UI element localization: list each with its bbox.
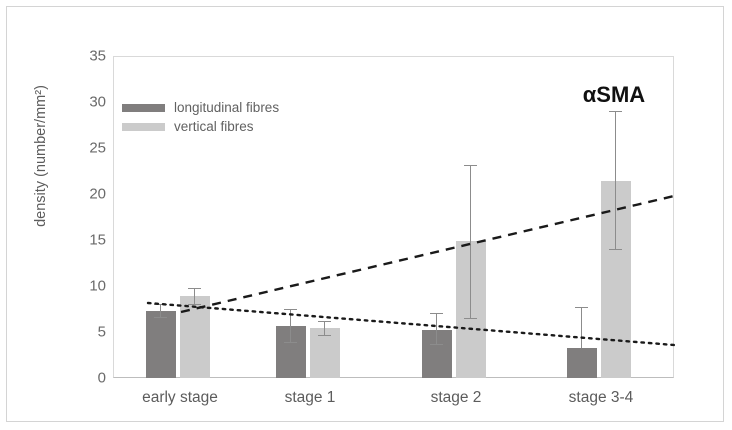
y-tick-30: 30 [66, 95, 106, 110]
y-tick-20: 20 [66, 187, 106, 202]
bar-vertical-stage-2[interactable] [456, 241, 486, 378]
x-tick-stage-3-4: stage 3-4 [521, 389, 681, 407]
bar-longitudinal-stage-3-4[interactable] [567, 348, 597, 378]
errorbar-cap-bottom-vertical-early-stage [188, 304, 201, 305]
errorbar-cap-top-vertical-stage-3-4 [609, 111, 622, 112]
bar-longitudinal-stage-2[interactable] [422, 330, 452, 378]
errorbar-cap-bottom-vertical-stage-3-4 [609, 249, 622, 250]
errorbar-longitudinal-early-stage [160, 304, 161, 317]
errorbar-vertical-stage-3-4 [615, 111, 616, 249]
errorbar-vertical-stage-2 [470, 165, 471, 318]
legend-label-vertical: vertical fibres [174, 119, 254, 134]
errorbar-vertical-stage-1 [324, 321, 325, 335]
errorbar-cap-top-vertical-stage-2 [464, 165, 477, 166]
errorbar-longitudinal-stage-2 [436, 313, 437, 344]
errorbar-cap-top-longitudinal-stage-1 [284, 309, 297, 310]
errorbar-cap-top-longitudinal-stage-3-4 [575, 307, 588, 308]
y-tick-15: 15 [66, 233, 106, 248]
errorbar-cap-top-longitudinal-stage-2 [430, 313, 443, 314]
legend-swatch-vertical-icon [122, 123, 165, 131]
y-tick-10: 10 [66, 279, 106, 294]
y-axis-title: density (number/mm²) [33, 31, 49, 281]
y-tick-35: 35 [66, 49, 106, 64]
y-tick-0: 0 [66, 371, 106, 386]
errorbar-cap-bottom-longitudinal-stage-1 [284, 342, 297, 343]
errorbar-cap-bottom-longitudinal-stage-2 [430, 344, 443, 345]
figure-canvas: 35 30 25 20 15 10 5 0 density (number/mm… [0, 0, 732, 430]
errorbar-vertical-early-stage [194, 288, 195, 304]
errorbar-longitudinal-stage-1 [290, 309, 291, 342]
legend: longitudinal fibres vertical fibres [122, 98, 352, 136]
errorbar-cap-bottom-vertical-stage-1 [318, 335, 331, 336]
errorbar-longitudinal-stage-3-4 [581, 307, 582, 348]
errorbar-cap-bottom-longitudinal-early-stage [154, 317, 167, 318]
y-tick-5: 5 [66, 325, 106, 340]
panel-title: αSMA [555, 82, 673, 108]
bar-longitudinal-stage-1[interactable] [276, 326, 306, 378]
bar-vertical-stage-3-4[interactable] [601, 181, 631, 378]
y-tick-25: 25 [66, 141, 106, 156]
legend-swatch-longitudinal-icon [122, 104, 165, 112]
bar-vertical-early-stage[interactable] [180, 296, 210, 378]
y-axis-tick-labels: 35 30 25 20 15 10 5 0 [60, 0, 106, 430]
legend-item-longitudinal-fibres[interactable]: longitudinal fibres [122, 98, 352, 117]
x-tick-stage-1: stage 1 [230, 389, 390, 407]
errorbar-cap-top-vertical-early-stage [188, 288, 201, 289]
legend-label-longitudinal: longitudinal fibres [174, 100, 279, 115]
legend-item-vertical-fibres[interactable]: vertical fibres [122, 117, 352, 136]
bar-longitudinal-early-stage[interactable] [146, 311, 176, 378]
x-tick-stage-2: stage 2 [376, 389, 536, 407]
errorbar-cap-top-longitudinal-early-stage [154, 304, 167, 305]
errorbar-cap-bottom-vertical-stage-2 [464, 318, 477, 319]
errorbar-cap-top-vertical-stage-1 [318, 321, 331, 322]
